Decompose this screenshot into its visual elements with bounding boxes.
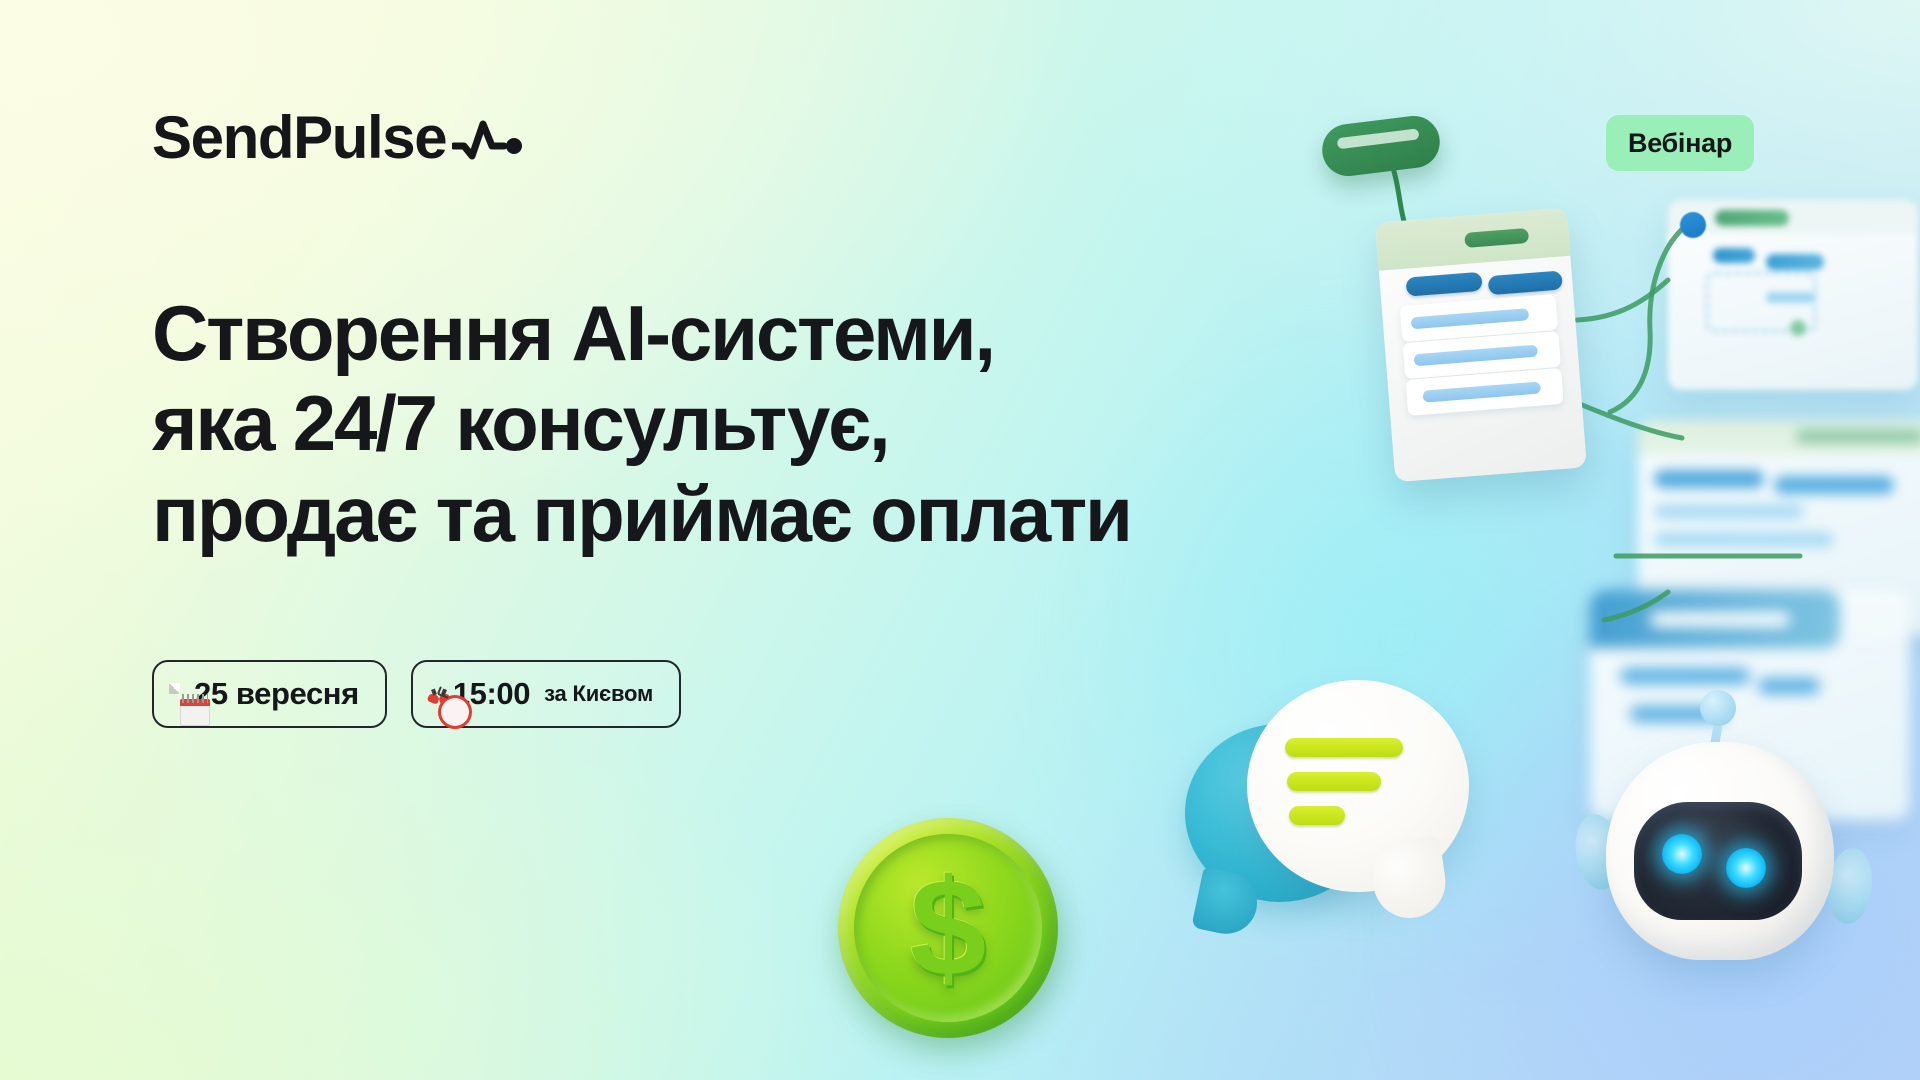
- event-date-text: 25 вересня: [194, 676, 359, 712]
- pulse-icon: [452, 118, 524, 164]
- sendpulse-logo[interactable]: SendPulse: [152, 108, 524, 168]
- logo-wordmark: SendPulse: [152, 108, 446, 168]
- headline-line-2: яка 24/7 консультує,: [152, 378, 1352, 468]
- chatbot-flow-card: [1375, 208, 1587, 482]
- dollar-coin-illustration: $: [838, 818, 1058, 1038]
- page-title: Створення AI-системи, яка 24/7 консульту…: [152, 288, 1352, 559]
- headline-line-3: продає та приймає оплати: [152, 469, 1352, 559]
- event-timezone-text: за Києвом: [544, 681, 653, 707]
- event-date-pill: 25 вересня: [152, 660, 387, 728]
- robot-head-illustration: [1572, 672, 1872, 972]
- dollar-sign-icon: $: [838, 818, 1058, 1038]
- flow-connector-dot-blue: [1680, 212, 1706, 238]
- chat-bubbles-illustration: [1185, 672, 1475, 972]
- status-badge: Вебінар: [1606, 115, 1754, 171]
- event-details: 25 вересня 15:00 за Києвом: [152, 660, 681, 728]
- event-time-pill: 15:00 за Києвом: [411, 660, 681, 728]
- headline-line-1: Створення AI-системи,: [152, 288, 1352, 378]
- webinar-promo-banner: $ SendPulse: [0, 0, 1920, 1080]
